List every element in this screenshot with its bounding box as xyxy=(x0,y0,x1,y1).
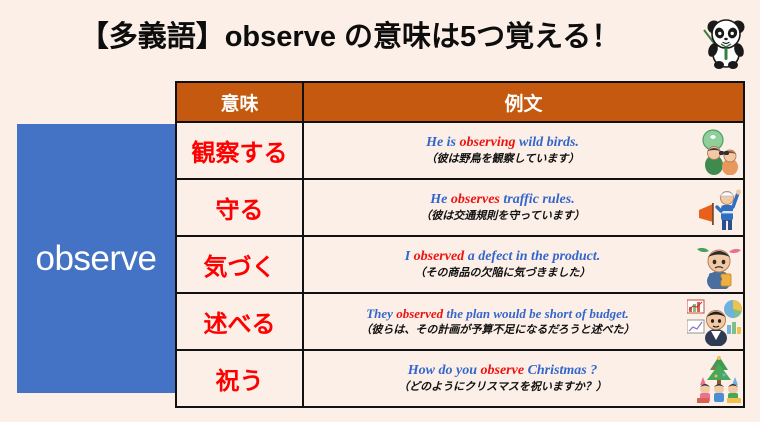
example-cell: They observed the plan would be short of… xyxy=(303,293,744,350)
businessman-with-charts-icon xyxy=(687,298,743,346)
meaning-cell: 守る xyxy=(176,179,303,236)
column-header-meaning: 意味 xyxy=(176,82,303,122)
traffic-officer-flag-icon xyxy=(697,184,741,232)
example-english: He observes traffic rules. xyxy=(430,191,574,208)
example-japanese: （彼らは、その計画が予算不足になるだろうと述べた） xyxy=(360,323,634,338)
meaning-cell: 観察する xyxy=(176,122,303,179)
example-cell: How do you observe Christmas ? （どのようにクリス… xyxy=(303,350,744,407)
christmas-tree-celebration-icon xyxy=(697,355,741,403)
slide-root: 【多義語】observe の意味は5つ覚える！ xyxy=(0,0,760,422)
example-japanese: （どのようにクリスマスを祝いますか？） xyxy=(398,380,607,395)
page-title: 【多義語】observe の意味は5つ覚える！ xyxy=(0,12,700,62)
birdwatching-binoculars-icon xyxy=(697,127,741,175)
example-english: They observed the plan would be short of… xyxy=(366,305,629,322)
example-cell: I observed a defect in the product. （その商… xyxy=(303,236,744,293)
table-row: 述べる They observed the plan would be shor… xyxy=(176,293,744,350)
example-japanese: （彼は交通規則を守っています） xyxy=(420,209,584,224)
example-english: How do you observe Christmas ? xyxy=(408,362,597,379)
example-cell: He is observing wild birds. （彼は野鳥を観察していま… xyxy=(303,122,744,179)
worried-man-noticing-icon xyxy=(697,241,741,289)
meaning-cell: 気づく xyxy=(176,236,303,293)
example-english: I observed a defect in the product. xyxy=(405,248,601,265)
meaning-cell: 祝う xyxy=(176,350,303,407)
meanings-table: 意味 例文 観察する He is observing wild birds. （… xyxy=(175,81,745,408)
example-english: He is observing wild birds. xyxy=(426,134,579,151)
column-header-example: 例文 xyxy=(303,82,744,122)
table-row: 祝う How do you observe Christmas ? （どのように… xyxy=(176,350,744,407)
headword-block: observe xyxy=(17,124,175,393)
example-japanese: （彼は野鳥を観察しています） xyxy=(426,152,580,167)
meaning-cell: 述べる xyxy=(176,293,303,350)
example-japanese: （その商品の欠陥に気づきました） xyxy=(415,266,591,281)
panda-with-pointer-icon xyxy=(700,14,752,70)
headword-text: observe xyxy=(35,239,156,279)
table-row: 観察する He is observing wild birds. （彼は野鳥を観… xyxy=(176,122,744,179)
table-row: 気づく I observed a defect in the product. … xyxy=(176,236,744,293)
table-header-row: 意味 例文 xyxy=(176,82,744,122)
example-cell: He observes traffic rules. （彼は交通規則を守っていま… xyxy=(303,179,744,236)
header: 【多義語】observe の意味は5つ覚える！ xyxy=(0,12,760,64)
table-row: 守る He observes traffic rules. （彼は交通規則を守っ… xyxy=(176,179,744,236)
